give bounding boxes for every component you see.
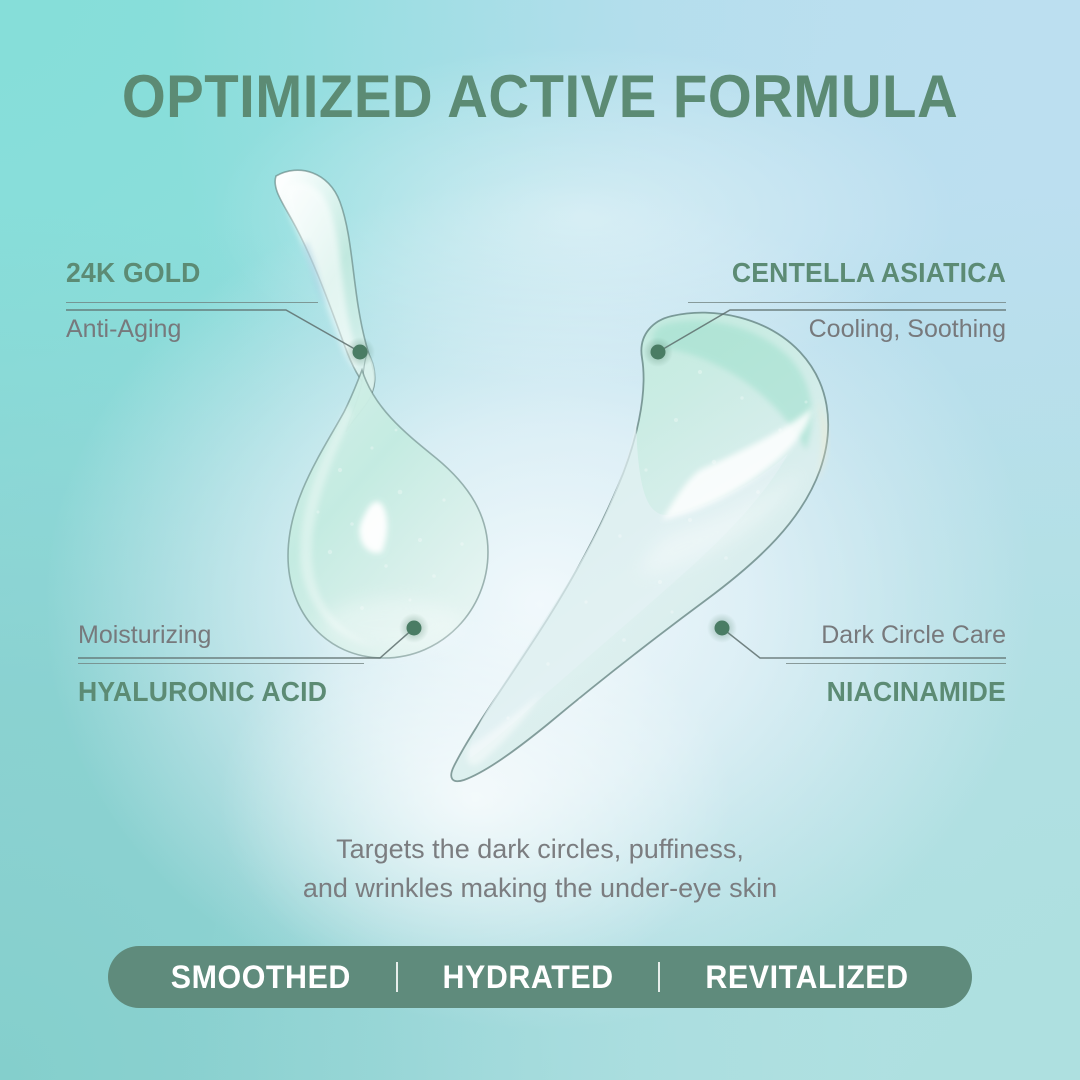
benefit-chip-hydrated: HYDRATED <box>404 959 651 996</box>
callout-centella-asiatica: CENTELLA ASIATICA Cooling, Soothing <box>688 258 1006 343</box>
page-title: OPTIMIZED ACTIVE FORMULA <box>32 62 1047 131</box>
callout-24k-gold: 24K GOLD Anti-Aging <box>66 258 318 343</box>
callout-benefit-text: Dark Circle Care <box>786 622 1006 650</box>
callout-hyaluronic-acid: Moisturizing HYALURONIC ACID <box>78 622 364 707</box>
callout-benefit-text: Moisturizing <box>78 622 364 650</box>
callout-benefit-text: Anti-Aging <box>66 316 318 344</box>
infographic-poster: OPTIMIZED ACTIVE FORMULA 24K GOLD Anti-A… <box>0 0 1080 1080</box>
callout-divider <box>78 663 364 664</box>
callout-divider <box>66 302 318 303</box>
callout-ingredient-name: CENTELLA ASIATICA <box>704 258 1006 289</box>
benefit-separator <box>396 962 398 992</box>
callout-ingredient-name: NIACINAMIDE <box>797 677 1006 708</box>
callout-divider <box>786 663 1006 664</box>
heart-gua-sha-stone <box>451 313 828 782</box>
benefit-chip-smoothed: SMOOTHED <box>133 959 389 996</box>
callout-ingredient-name: 24K GOLD <box>66 258 305 289</box>
callout-leader-lines <box>66 310 1006 658</box>
callout-niacinamide: Dark Circle Care NIACINAMIDE <box>786 622 1006 707</box>
description-text: Targets the dark circles, puffiness, and… <box>0 830 1080 908</box>
teardrop-gua-sha-tool <box>275 170 488 658</box>
callout-divider <box>688 302 1006 303</box>
callout-ingredient-name: HYALURONIC ACID <box>78 677 350 708</box>
callout-benefit-text: Cooling, Soothing <box>688 316 1006 344</box>
benefit-chip-revitalized: REVITALIZED <box>667 959 946 996</box>
benefit-separator <box>658 962 660 992</box>
product-illustration <box>0 0 1080 1080</box>
benefits-pill-bar: SMOOTHED HYDRATED REVITALIZED <box>108 946 972 1008</box>
description-line-2: and wrinkles making the under-eye skin <box>0 869 1080 908</box>
description-line-1: Targets the dark circles, puffiness, <box>0 830 1080 869</box>
